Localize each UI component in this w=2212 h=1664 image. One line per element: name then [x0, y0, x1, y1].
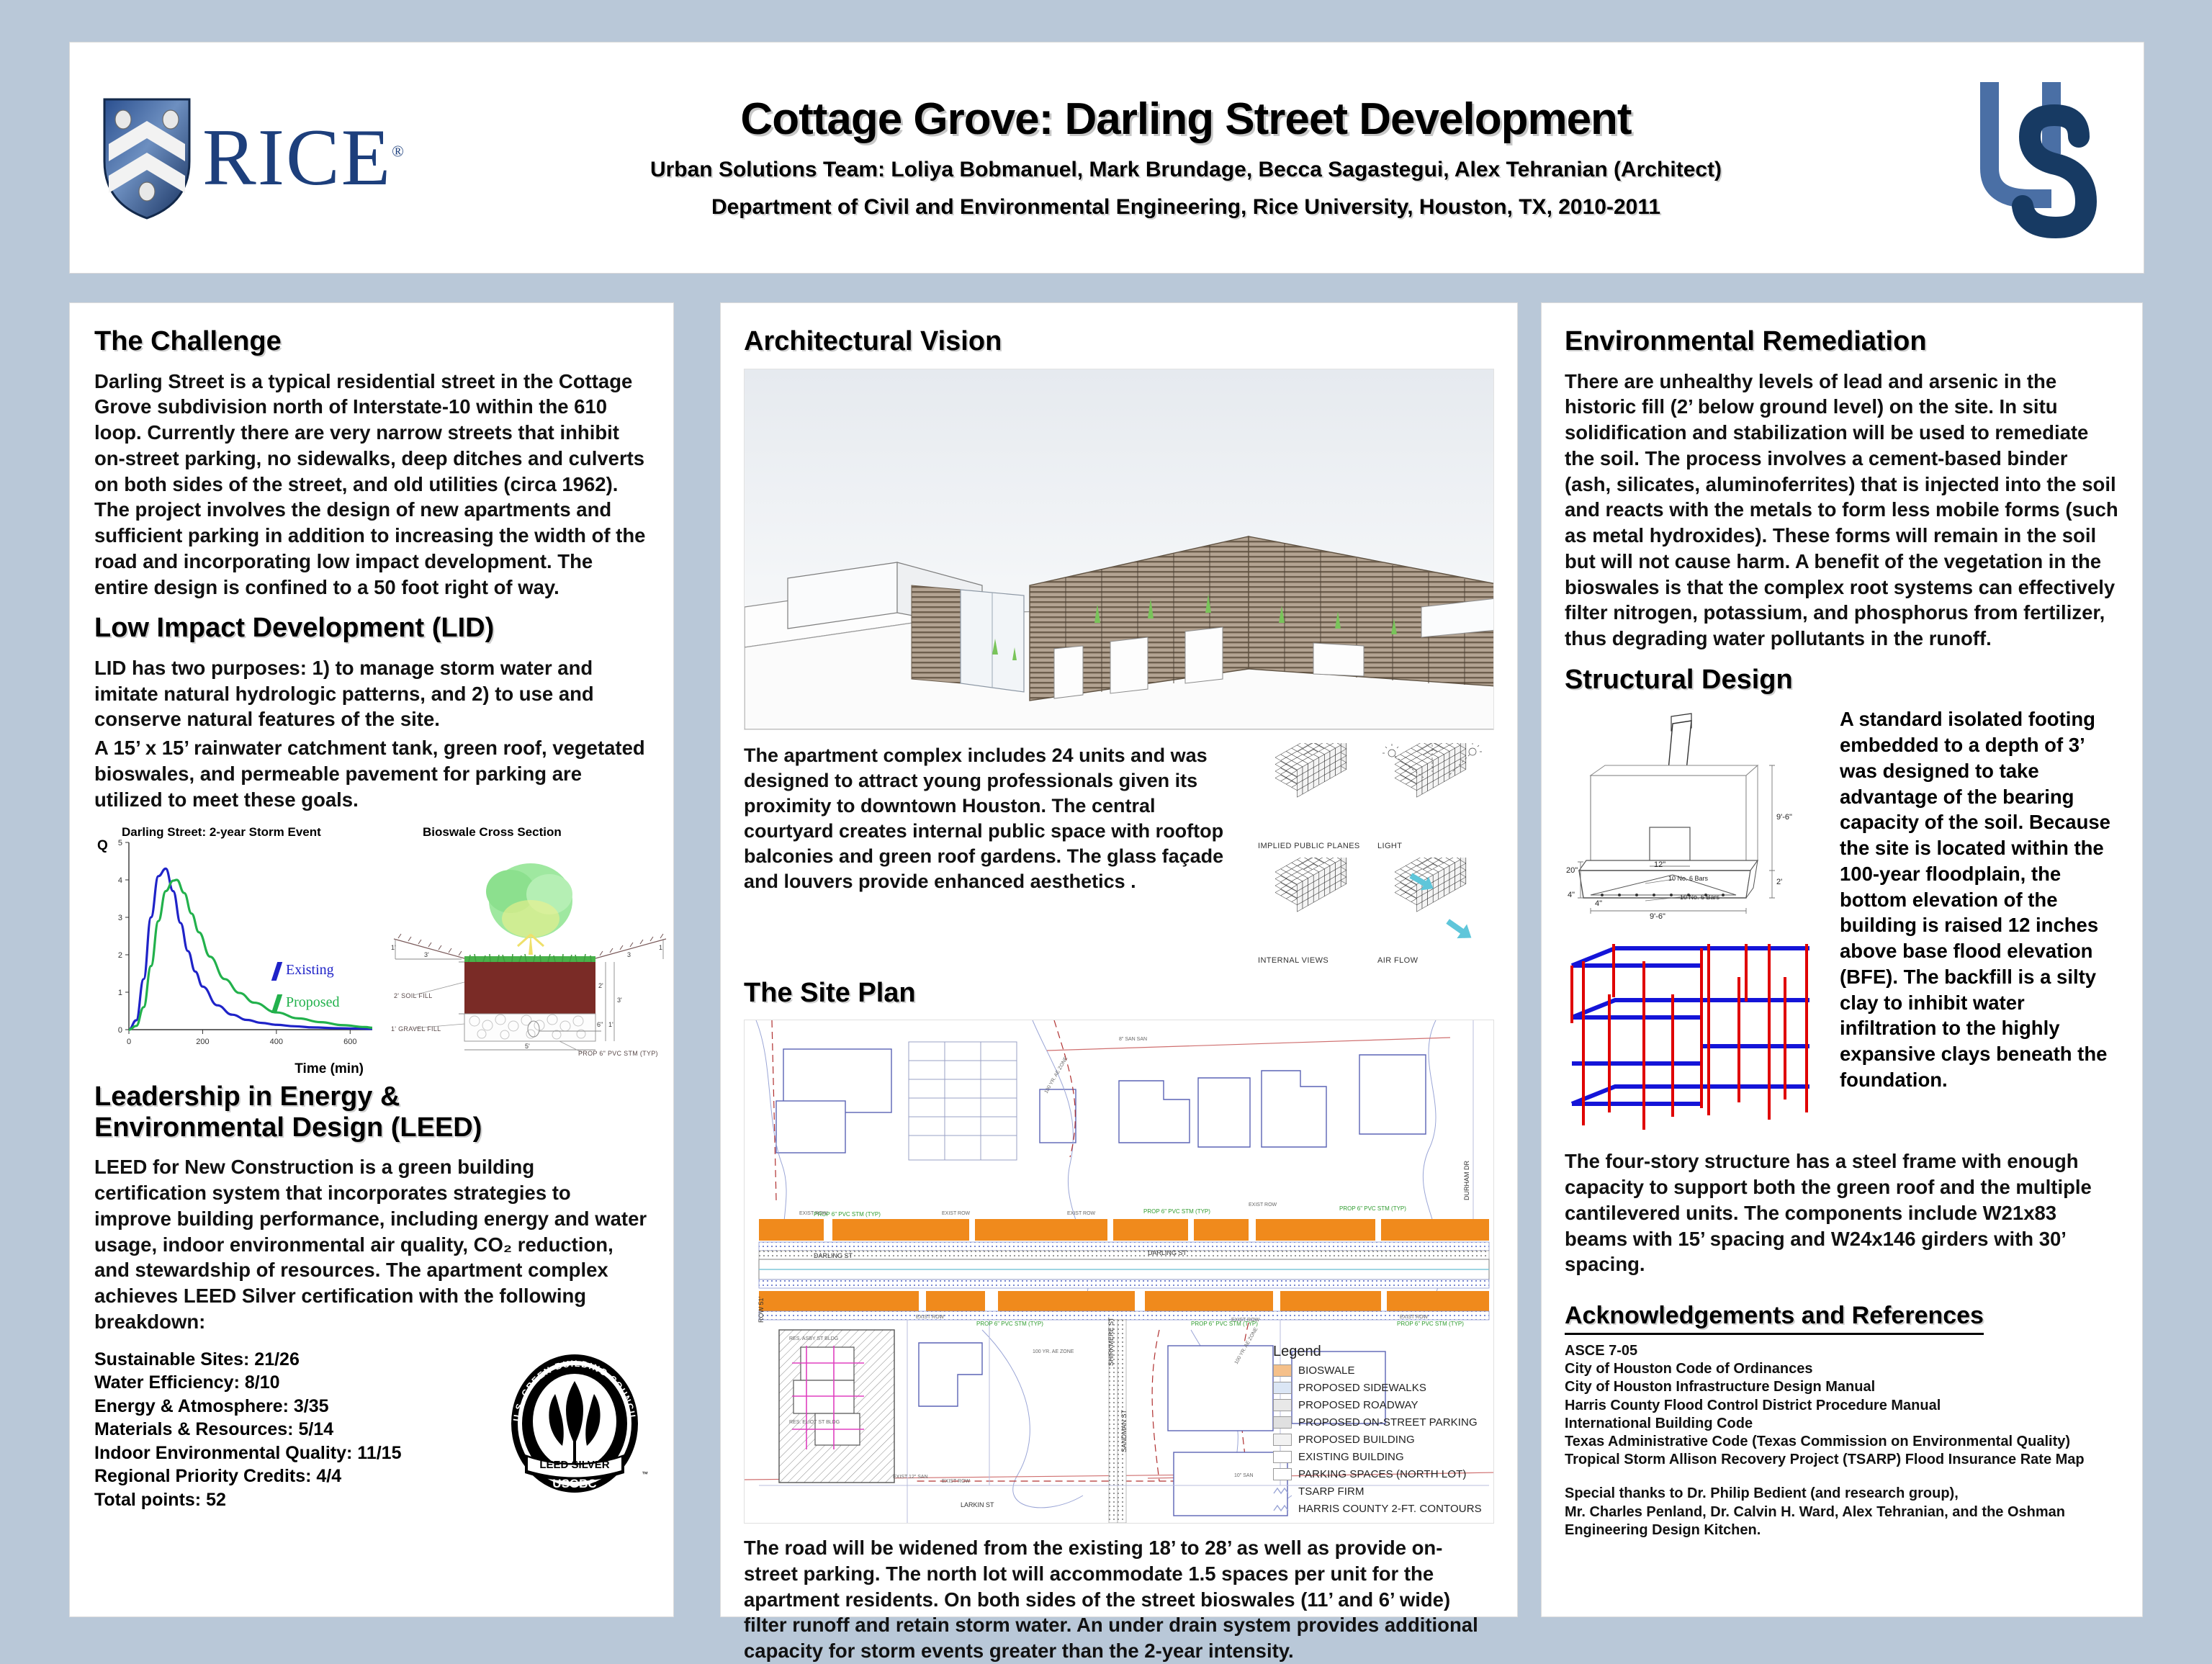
leed-paragraph: LEED for New Construction is a green bui…: [94, 1154, 649, 1334]
massing-diagram-2: INTERNAL VIEWS: [1256, 858, 1375, 971]
massing-diagram-label-0: IMPLIED PUBLIC PLANES: [1258, 842, 1375, 850]
legend-swatch-7: [1273, 1485, 1292, 1498]
legend-row-0: BIOSWALE: [1273, 1364, 1489, 1377]
legend-label-existing: Existing: [286, 962, 334, 979]
poster-department: Department of Civil and Environmental En…: [444, 195, 1928, 220]
footing-rebar-top-label: 10 No. 6 Bars: [1668, 875, 1708, 882]
svg-text:1: 1: [118, 989, 122, 997]
svg-text:SANDMAN ST: SANDMAN ST: [1120, 1410, 1128, 1453]
footing-dim-left-top: 20": [1566, 866, 1578, 875]
footing-dim-base-offset: 4": [1595, 899, 1602, 908]
structural-figures: 9'-6" 12" 20" 4" 4" 2' 9'-6" 10 No. 6 Ba…: [1565, 706, 1833, 1141]
poster-title: Cottage Grove: Darling Street Developmen…: [444, 96, 1928, 143]
svg-text:EXIST ROW: EXIST ROW: [942, 1211, 971, 1216]
legend-swatch-5: [1273, 1451, 1292, 1463]
tree-icon: [486, 863, 572, 955]
legend-label-2: PROPOSED ROADWAY: [1298, 1399, 1419, 1411]
svg-text:2: 2: [118, 951, 122, 960]
usgbc-band-text: LEED SILVER: [539, 1459, 609, 1471]
legend-swatch-8: [1273, 1503, 1292, 1515]
site-plan-paragraph: The road will be widened from the existi…: [744, 1535, 1494, 1664]
legend-label-4: PROPOSED BUILDING: [1298, 1434, 1415, 1446]
lid-paragraph-1: LID has two purposes: 1) to manage storm…: [94, 655, 649, 732]
legend-rows: BIOSWALEPROPOSED SIDEWALKSPROPOSED ROADW…: [1273, 1364, 1489, 1515]
vision-text-and-diagrams: The apartment complex includes 24 units …: [744, 743, 1494, 971]
svg-text:EXIST ROW: EXIST ROW: [942, 1479, 971, 1484]
svg-text:EXIST ROW: EXIST ROW: [916, 1315, 945, 1320]
lid-paragraph-2: A 15’ x 15’ rainwater catchment tank, gr…: [94, 735, 649, 812]
bioswale-pipe-label: PROP 6" PVC STM (TYP): [578, 1050, 658, 1057]
svg-text:EXIST ROW: EXIST ROW: [1067, 1211, 1096, 1216]
reference-item-2: City of Houston Infrastructure Design Ma…: [1565, 1378, 2119, 1396]
svg-text:8" SAN SAN: 8" SAN SAN: [1119, 1037, 1147, 1042]
thanks-line-0: Special thanks to Dr. Philip Bedient (an…: [1565, 1485, 2119, 1503]
bioswale-dim-gravel-ft: 1': [608, 1021, 613, 1028]
section-heading-lid: Low Impact Development (LID): [94, 613, 649, 644]
legend-row-2: PROPOSED ROADWAY: [1273, 1399, 1489, 1411]
leed-heading-line2: Environmental Design (LEED): [94, 1112, 482, 1143]
bioswale-cross-section: Bioswale Cross Section: [390, 825, 670, 1077]
svg-text:EXIST ROW: EXIST ROW: [1400, 1315, 1429, 1320]
isolated-footing-diagram: 9'-6" 12" 20" 4" 4" 2' 9'-6" 10 No. 6 Ba…: [1565, 706, 1831, 930]
svg-text:PROP 6" PVC STM (TYP): PROP 6" PVC STM (TYP): [1397, 1321, 1464, 1327]
bioswale-title: Bioswale Cross Section: [423, 825, 562, 840]
remediation-paragraph: There are unhealthy levels of lead and a…: [1565, 369, 2119, 652]
reference-item-4: International Building Code: [1565, 1415, 2119, 1433]
section-heading-site-plan: The Site Plan: [744, 978, 1494, 1009]
legend-row-4: PROPOSED BUILDING: [1273, 1434, 1489, 1446]
leed-points-list: Sustainable Sites: 21/26Water Efficiency…: [94, 1348, 490, 1512]
hydrograph-chart: Darling Street: 2-year Storm Event Q 012…: [94, 825, 382, 1077]
reference-item-0: ASCE 7-05: [1565, 1342, 2119, 1360]
poster-canvas: RICE® Cottage Grove: Darling Street Deve…: [0, 0, 2212, 1659]
massing-diagram-label-3: AIR FLOW: [1377, 956, 1494, 965]
leed-heading-line1: Leadership in Energy &: [94, 1081, 400, 1112]
section-heading-challenge: The Challenge: [94, 326, 649, 357]
vision-paragraph: The apartment complex includes 24 units …: [744, 743, 1246, 895]
section-heading-environmental-remediation: Environmental Remediation: [1565, 326, 2119, 357]
svg-text:10" SAN: 10" SAN: [1234, 1473, 1254, 1478]
legend-swatch-6: [1273, 1468, 1292, 1480]
special-thanks: Special thanks to Dr. Philip Bedient (an…: [1565, 1485, 2119, 1539]
footing-dim-base-width: 9'-6": [1650, 912, 1665, 921]
vision-text: The apartment complex includes 24 units …: [744, 743, 1246, 971]
footing-dim-height: 9'-6": [1776, 813, 1792, 822]
site-plan-drawing: PROP 6" PVC STM (TYP) PROP 6" PVC STM (T…: [744, 1020, 1494, 1524]
footing-dim-col-width: 12": [1654, 860, 1665, 869]
legend-label-proposed: Proposed: [286, 994, 339, 1011]
svg-text:100 YR. AE ZONE: 100 YR. AE ZONE: [1033, 1349, 1074, 1354]
section-heading-architectural-vision: Architectural Vision: [744, 326, 1494, 357]
svg-text:LARKIN ST: LARKIN ST: [961, 1501, 994, 1508]
section-heading-structural-design: Structural Design: [1565, 665, 2119, 696]
lid-figures-row: Darling Street: 2-year Storm Event Q 012…: [94, 825, 649, 1077]
poster-team: Urban Solutions Team: Loliya Bobmanuel, …: [444, 158, 1928, 182]
leed-point-5: Regional Priority Credits: 4/4: [94, 1465, 490, 1488]
left-column: The Challenge Darling Street is a typica…: [69, 302, 674, 1617]
legend-title: Legend: [1273, 1344, 1489, 1360]
usgbc-leed-silver-logo: LEED SILVER USGBC U.S. GREEN BUILDING CO…: [500, 1349, 649, 1498]
svg-text:PROP 6" PVC STM (TYP): PROP 6" PVC STM (TYP): [976, 1321, 1043, 1327]
hydrograph-ylabel: Q: [97, 838, 108, 854]
legend-swatch-1: [1273, 1382, 1292, 1394]
section-heading-acknowledgements: Acknowledgements and References: [1565, 1302, 1984, 1335]
legend-row-8: HARRIS COUNTY 2-FT. CONTOURS: [1273, 1503, 1489, 1515]
usgbc-trademark: ™: [642, 1470, 648, 1478]
svg-text:200: 200: [196, 1038, 209, 1046]
massing-diagram-grid: IMPLIED PUBLIC PLANES LIGHTINTERNAL VIEW…: [1256, 743, 1494, 971]
steel-frame-diagram: [1565, 932, 1831, 1141]
svg-text:SHIRKMERE ST: SHIRKMERE ST: [1107, 1317, 1115, 1366]
leed-points-block: Sustainable Sites: 21/26Water Efficiency…: [94, 1348, 649, 1512]
svg-text:0: 0: [118, 1026, 122, 1035]
bioswale-dim-left-slope: 3': [424, 951, 429, 958]
architectural-rendering: [744, 369, 1494, 730]
svg-text:3: 3: [118, 914, 122, 922]
massing-diagram-3: AIR FLOW: [1376, 858, 1494, 971]
svg-text:EXIST ROW: EXIST ROW: [1231, 1318, 1260, 1323]
reference-item-1: City of Houston Code of Ordinances: [1565, 1360, 2119, 1378]
hydrograph-plot: 0123450200400600: [94, 825, 382, 1063]
svg-text:ROW 51': ROW 51': [757, 1297, 765, 1323]
leed-point-2: Energy & Atmosphere: 3/35: [94, 1395, 490, 1418]
bioswale-dim-right-slope: 3: [627, 951, 631, 958]
footing-rebar-bottom-label: 10 No. 6 Bars: [1680, 894, 1719, 901]
legend-swatch-3: [1273, 1416, 1292, 1429]
svg-text:PROP 6" PVC STM (TYP): PROP 6" PVC STM (TYP): [1339, 1205, 1406, 1212]
svg-text:DARLING ST: DARLING ST: [1148, 1249, 1187, 1256]
svg-text:400: 400: [270, 1038, 283, 1046]
massing-diagram-1: LIGHT: [1376, 743, 1494, 856]
bioswale-dim-soil: 2': [598, 982, 603, 989]
section-heading-leed: Leadership in Energy & Environmental Des…: [94, 1081, 649, 1143]
rice-wordmark: RICE®: [202, 117, 405, 198]
structural-paragraph-2: The four-story structure has a steel fra…: [1565, 1148, 2119, 1277]
header-text-block: Cottage Grove: Darling Street Developmen…: [444, 96, 1956, 219]
svg-text:RES. ASBY ST BLDG: RES. ASBY ST BLDG: [789, 1336, 838, 1341]
usgbc-base-text: USGBC: [552, 1477, 596, 1490]
legend-swatch-4: [1273, 1434, 1292, 1446]
massing-diagram-label-2: INTERNAL VIEWS: [1258, 956, 1375, 965]
legend-row-5: EXISTING BUILDING: [1273, 1451, 1489, 1463]
legend-row-3: PROPOSED ON-STREET PARKING: [1273, 1416, 1489, 1429]
massing-diagram-0: IMPLIED PUBLIC PLANES: [1256, 743, 1375, 856]
legend-swatch-0: [1273, 1364, 1292, 1377]
references-list: ASCE 7-05City of Houston Code of Ordinan…: [1565, 1342, 2119, 1469]
structural-paragraph-1: A standard isolated footing embedded to …: [1840, 706, 2119, 1141]
svg-text:RES. ELIOT ST BLDG: RES. ELIOT ST BLDG: [789, 1420, 840, 1425]
legend-label-5: EXISTING BUILDING: [1298, 1451, 1404, 1463]
footing-dim-left-bottom: 4": [1568, 891, 1575, 899]
bioswale-soil-label: 2' SOIL FILL: [394, 992, 433, 999]
svg-text:DURHAM DR: DURHAM DR: [1463, 1161, 1470, 1200]
leed-point-6: Total points: 52: [94, 1488, 490, 1512]
site-plan-legend: Legend BIOSWALEPROPOSED SIDEWALKSPROPOSE…: [1273, 1344, 1489, 1520]
svg-text:0: 0: [127, 1038, 131, 1046]
rice-wordmark-text: RICE: [202, 113, 392, 202]
challenge-paragraph: Darling Street is a typical residential …: [94, 369, 649, 601]
legend-label-1: PROPOSED SIDEWALKS: [1298, 1382, 1426, 1394]
massing-diagram-label-1: LIGHT: [1377, 842, 1494, 850]
svg-text:EXIST 12" SAN: EXIST 12" SAN: [893, 1475, 928, 1480]
legend-label-8: HARRIS COUNTY 2-FT. CONTOURS: [1298, 1503, 1482, 1515]
svg-text:EXIST ROW: EXIST ROW: [1249, 1202, 1277, 1207]
legend-label-6: PARKING SPACES (NORTH LOT): [1298, 1468, 1466, 1480]
bioswale-dim-total: 3': [617, 997, 622, 1004]
leed-point-1: Water Efficiency: 8/10: [94, 1371, 490, 1395]
us-monogram-icon: [1971, 68, 2129, 248]
svg-text:PROP 6" PVC STM (TYP): PROP 6" PVC STM (TYP): [1143, 1208, 1210, 1215]
bioswale-dim-right-depth: 1: [659, 944, 662, 951]
poster-header: RICE® Cottage Grove: Darling Street Deve…: [69, 42, 2144, 274]
rice-logo: RICE®: [70, 42, 444, 273]
svg-text:DARLING ST: DARLING ST: [814, 1252, 853, 1259]
svg-text:EXIST ROW: EXIST ROW: [799, 1211, 828, 1216]
rice-shield-icon: [100, 95, 194, 221]
leed-point-3: Materials & Resources: 5/14: [94, 1418, 490, 1442]
hydrograph-xlabel: Time (min): [295, 1061, 364, 1077]
legend-label-7: TSARP FIRM: [1298, 1485, 1364, 1498]
footing-dim-base-depth: 2': [1776, 878, 1782, 886]
legend-row-7: TSARP FIRM: [1273, 1485, 1489, 1498]
registered-mark: ®: [392, 143, 405, 161]
thanks-line-2: Engineering Design Kitchen.: [1565, 1521, 2119, 1539]
legend-row-6: PARKING SPACES (NORTH LOT): [1273, 1468, 1489, 1480]
structural-figures-and-text: 9'-6" 12" 20" 4" 4" 2' 9'-6" 10 No. 6 Ba…: [1565, 706, 2119, 1141]
svg-text:4: 4: [118, 876, 122, 885]
leed-point-4: Indoor Environmental Quality: 11/15: [94, 1442, 490, 1465]
thanks-line-1: Mr. Charles Penland, Dr. Calvin H. Ward,…: [1565, 1503, 2119, 1521]
bioswale-dim-width: 5': [525, 1043, 530, 1050]
reference-item-3: Harris County Flood Control District Pro…: [1565, 1397, 2119, 1415]
legend-label-0: BIOSWALE: [1298, 1364, 1355, 1377]
svg-text:5: 5: [118, 839, 122, 847]
reference-item-6: Tropical Storm Allison Recovery Project …: [1565, 1451, 2119, 1469]
bioswale-dim-gravel: 6": [597, 1021, 603, 1028]
legend-swatch-2: [1273, 1399, 1292, 1411]
legend-label-3: PROPOSED ON-STREET PARKING: [1298, 1416, 1478, 1429]
urban-solutions-logo: [1956, 42, 2144, 273]
svg-text:600: 600: [343, 1038, 356, 1046]
legend-row-1: PROPOSED SIDEWALKS: [1273, 1382, 1489, 1394]
reference-item-5: Texas Administrative Code (Texas Commiss…: [1565, 1433, 2119, 1451]
leed-point-0: Sustainable Sites: 21/26: [94, 1348, 490, 1372]
right-column: Environmental Remediation There are unhe…: [1541, 302, 2143, 1617]
bioswale-dim-left-depth: 1': [391, 944, 396, 951]
hydrograph-title: Darling Street: 2-year Storm Event: [122, 825, 321, 840]
bioswale-gravel-label: 1' GRAVEL FILL: [391, 1025, 441, 1033]
middle-column: Architectural Vision: [720, 302, 1518, 1617]
